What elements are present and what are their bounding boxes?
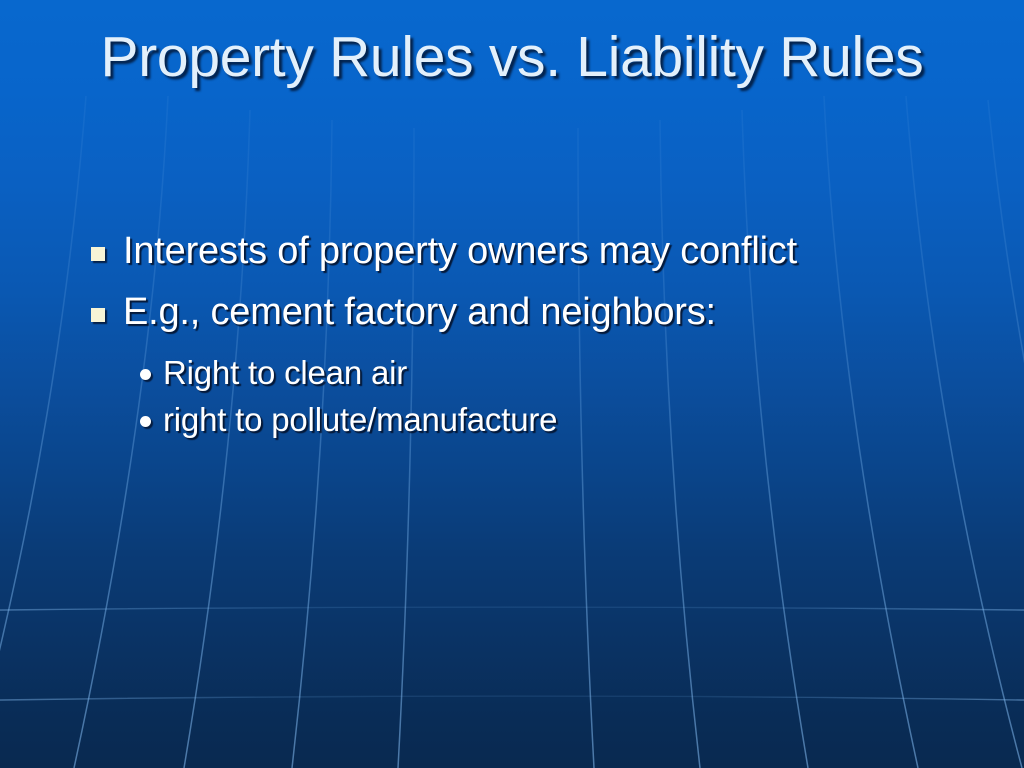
list-item: right to pollute/manufacture: [78, 397, 978, 443]
bullet-text: E.g., cement factory and neighbors:: [123, 291, 716, 333]
bullet-text: right to pollute/manufacture: [163, 401, 557, 438]
square-bullet-icon: [91, 247, 105, 261]
list-item: Right to clean air: [78, 350, 978, 396]
list-item: Interests of property owners may conflic…: [78, 228, 978, 275]
bullet-text: Right to clean air: [163, 354, 407, 391]
bullet-text: Interests of property owners may conflic…: [123, 230, 797, 272]
sub-bullet-group: Right to clean air right to pollute/manu…: [78, 350, 978, 443]
round-bullet-icon: [140, 369, 151, 380]
slide-body-block: Interests of property owners may conflic…: [78, 228, 978, 444]
page-title: Property Rules vs. Liability Rules: [60, 22, 964, 92]
round-bullet-icon: [140, 416, 151, 427]
list-item: E.g., cement factory and neighbors:: [78, 289, 978, 336]
presentation-slide: Property Rules vs. Liability Rules Inter…: [0, 0, 1024, 768]
square-bullet-icon: [91, 308, 105, 322]
slide-title-block: Property Rules vs. Liability Rules: [60, 22, 964, 92]
